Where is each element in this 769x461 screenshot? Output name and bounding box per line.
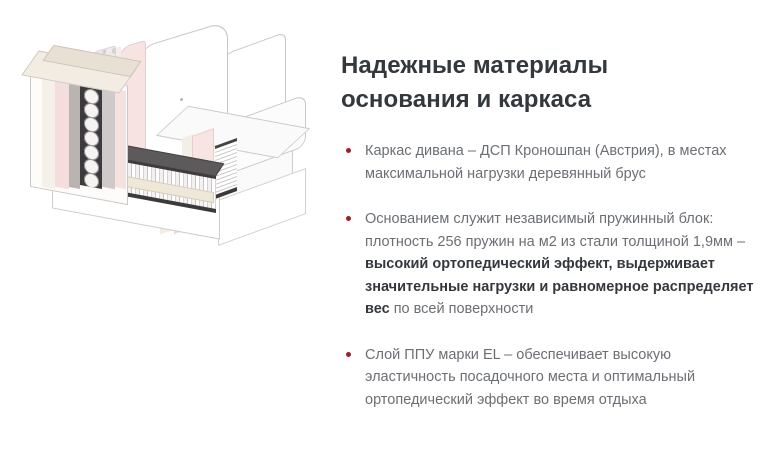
content-column: Надежные материалы основания и каркаса К… xyxy=(341,0,761,461)
armrest-spring-core xyxy=(80,83,102,189)
armrest-fabric-layer xyxy=(42,79,55,189)
backrest-button-detail xyxy=(180,98,183,101)
bullet-dot-icon xyxy=(346,148,351,153)
feature-item-ppu-layer: Слой ППУ марки EL – обеспечивает высокую… xyxy=(341,344,761,412)
feature-item-spring-block: Основанием служит независимый пружинный … xyxy=(341,208,761,321)
illustration-stage xyxy=(22,36,317,251)
bullet-dot-icon xyxy=(346,216,351,221)
page-title-line-1: Надежные материалы xyxy=(341,49,761,83)
feature-item-text: Слой ППУ марки EL – обеспечивает высокую… xyxy=(365,347,695,408)
armrest-inner-foam-layer xyxy=(114,89,126,189)
foam-granule xyxy=(112,47,116,54)
feature-item-frame: Каркас дивана – ДСП Кроношпан (Австрия),… xyxy=(341,140,761,185)
promo-panel: Надежные материалы основания и каркаса К… xyxy=(0,0,769,461)
armrest-inner-felt-layer xyxy=(102,87,115,189)
armrest-felt-layer xyxy=(69,83,80,189)
sofa-cutaway-illustration xyxy=(0,0,325,461)
page-title-line-2: основания и каркаса xyxy=(341,83,761,117)
feature-item-text: Основанием служит независимый пружинный … xyxy=(365,211,753,317)
armrest-foam-layer xyxy=(55,81,69,190)
feature-item-text: Каркас дивана – ДСП Кроношпан (Австрия),… xyxy=(365,143,727,182)
feature-list: Каркас дивана – ДСП Кроношпан (Австрия),… xyxy=(341,140,761,411)
page-title: Надежные материалы основания и каркаса xyxy=(341,0,761,117)
bullet-dot-icon xyxy=(346,352,351,357)
